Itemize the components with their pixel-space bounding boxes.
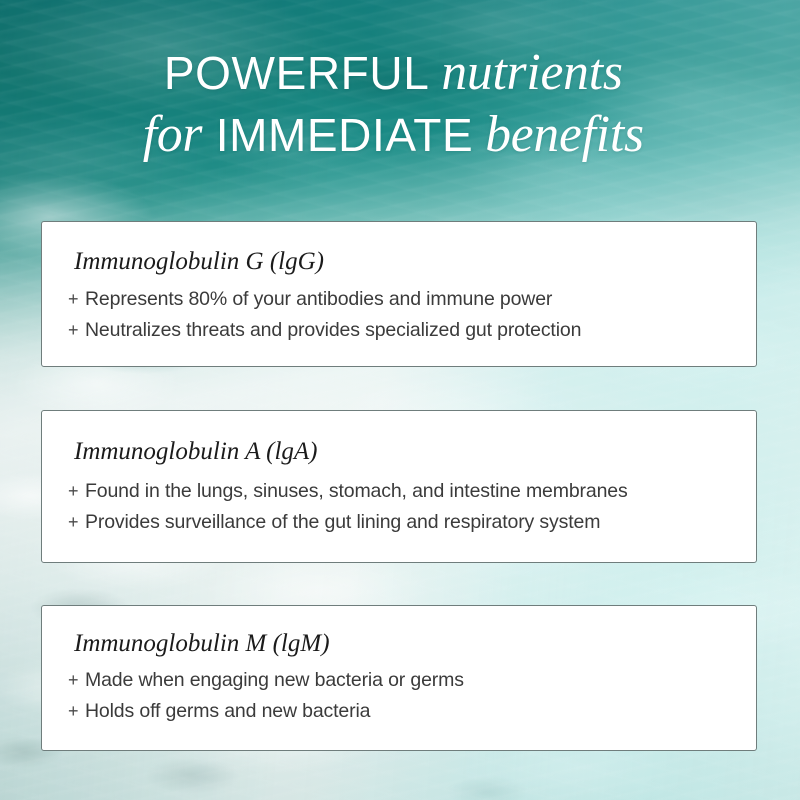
card-bullet-list: + Represents 80% of your antibodies and …: [68, 290, 756, 340]
card-bullet-list: + Made when engaging new bacteria or ger…: [68, 671, 756, 721]
list-item: + Provides surveillance of the gut linin…: [68, 513, 756, 533]
poster-canvas: POWERFULnutrients forIMMEDIATEbenefits I…: [0, 0, 800, 800]
headline-word-for: for: [143, 106, 203, 163]
plus-icon: +: [68, 482, 85, 500]
page-headline: POWERFULnutrients forIMMEDIATEbenefits: [0, 46, 800, 162]
list-item: + Made when engaging new bacteria or ger…: [68, 671, 756, 691]
list-item: + Holds off germs and new bacteria: [68, 702, 756, 722]
plus-icon: +: [68, 290, 85, 308]
bullet-text: Made when engaging new bacteria or germs: [85, 671, 464, 691]
nutrient-card-igg: Immunoglobulin G (lgG) + Represents 80% …: [41, 221, 757, 367]
bullet-text: Found in the lungs, sinuses, stomach, an…: [85, 482, 628, 502]
list-item: + Found in the lungs, sinuses, stomach, …: [68, 482, 756, 502]
plus-icon: +: [68, 702, 85, 720]
card-title: Immunoglobulin A (lgA): [74, 438, 756, 466]
plus-icon: +: [68, 321, 85, 339]
headline-line-2: forIMMEDIATEbenefits: [0, 108, 800, 163]
card-bullet-list: + Found in the lungs, sinuses, stomach, …: [68, 482, 756, 532]
bullet-text: Neutralizes threats and provides special…: [85, 321, 581, 341]
list-item: + Neutralizes threats and provides speci…: [68, 321, 756, 341]
headline-word-powerful: POWERFUL: [164, 47, 429, 99]
plus-icon: +: [68, 513, 85, 531]
list-item: + Represents 80% of your antibodies and …: [68, 290, 756, 310]
card-title: Immunoglobulin M (lgM): [74, 630, 756, 658]
nutrient-card-igm: Immunoglobulin M (lgM) + Made when engag…: [41, 605, 757, 751]
bullet-text: Represents 80% of your antibodies and im…: [85, 290, 552, 310]
headline-word-immediate: IMMEDIATE: [216, 109, 474, 161]
bullet-text: Holds off germs and new bacteria: [85, 702, 370, 722]
card-title: Immunoglobulin G (lgG): [74, 248, 756, 276]
headline-word-benefits: benefits: [485, 106, 644, 163]
headline-line-1: POWERFULnutrients: [0, 46, 800, 101]
nutrient-card-iga: Immunoglobulin A (lgA) + Found in the lu…: [41, 410, 757, 563]
bullet-text: Provides surveillance of the gut lining …: [85, 513, 600, 533]
plus-icon: +: [68, 671, 85, 689]
headline-word-nutrients: nutrients: [441, 44, 622, 101]
